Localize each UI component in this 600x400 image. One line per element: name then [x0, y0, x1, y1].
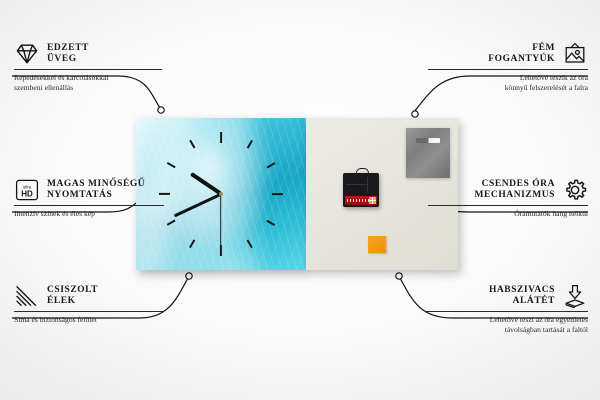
feature-title-2: ALÁTÉT [489, 296, 555, 308]
node-metal-handles [412, 111, 418, 117]
divider [428, 69, 588, 70]
habszivacs-alátét [368, 236, 386, 253]
svg-text:HD: HD [21, 189, 33, 198]
hour-hand [190, 172, 222, 195]
divider [428, 205, 588, 206]
feature-silent-mechanism: CSENDES ÓRA MECHANIZMUS Óramutatók hang … [428, 178, 588, 219]
feature-title-2: ÉLEK [47, 296, 98, 308]
feature-desc: Óramutatók hang nélkül [428, 209, 588, 219]
node-tempered-glass [158, 107, 164, 113]
mechanism-seam-vertical [367, 177, 368, 193]
feature-metal-handles: FÉM FOGANTYÚK Lehetővé teszik az óra kön… [428, 42, 588, 92]
feature-desc: Repedésekkel és karcolásokkal [14, 73, 162, 83]
feature-desc: Lehetővé teszi az óra egyenletes [426, 315, 588, 325]
feature-title: MAGAS MINŐSÉGŰ [47, 179, 145, 191]
hanger-slot [416, 138, 440, 143]
feature-title: FÉM [488, 43, 555, 55]
feature-desc: Lehetővé teszik az óra [428, 73, 588, 83]
picture-hanger-icon [562, 42, 588, 66]
divider [14, 311, 164, 312]
mechanism-seam [346, 184, 367, 185]
divider [14, 205, 164, 206]
feature-high-quality-print: ultra HD MAGAS MINŐSÉGŰ NYOMTATÁS Intenz… [14, 178, 164, 219]
feature-foam-pad: HABSZIVACS ALÁTÉT Lehetővé teszi az óra … [426, 284, 588, 334]
feature-desc-2: könnyű felszerelését a falra [428, 83, 588, 93]
infographic-stage: EDZETT ÜVEG Repedésekkel és karcolásokka… [0, 0, 600, 400]
feature-title-2: FOGANTYÚK [488, 54, 555, 66]
divider [426, 311, 588, 312]
feature-title: HABSZIVACS [489, 285, 555, 297]
óra-mechanizmus [343, 173, 379, 207]
divider [14, 69, 162, 70]
gear-icon [562, 178, 588, 202]
feature-title-2: MECHANIZMUS [475, 190, 555, 202]
polished-edges-icon [14, 284, 40, 308]
battery-label [347, 199, 369, 202]
feature-tempered-glass: EDZETT ÜVEG Repedésekkel és karcolásokka… [14, 42, 162, 92]
feature-title-2: NYOMTATÁS [47, 190, 145, 202]
elem [345, 196, 377, 205]
feature-desc-2: szembeni ellenállás [14, 83, 162, 93]
feature-title: CSENDES ÓRA [475, 179, 555, 191]
feature-title-2: ÜVEG [47, 54, 89, 66]
battery-plus-terminal [369, 197, 376, 204]
node-foam-pad [396, 273, 402, 279]
ultra-hd-icon: ultra HD [14, 178, 40, 202]
feature-desc: Intenzív színek és éles kép [14, 209, 164, 219]
feature-title: EDZETT [47, 43, 89, 55]
foam-pad-icon [562, 284, 588, 308]
node-polished-edges [186, 273, 192, 279]
mechanism-loop [356, 168, 369, 176]
feature-desc: Sima és biztonságos felület [14, 315, 164, 325]
diamond-icon [14, 42, 40, 66]
feature-desc-2: távolságban tartását a faltól [426, 325, 588, 335]
feature-polished-edges: CSISZOLT ÉLEK Sima és biztonságos felüle… [14, 284, 164, 325]
feature-title: CSISZOLT [47, 285, 98, 297]
fém-fogantyú [406, 128, 450, 178]
